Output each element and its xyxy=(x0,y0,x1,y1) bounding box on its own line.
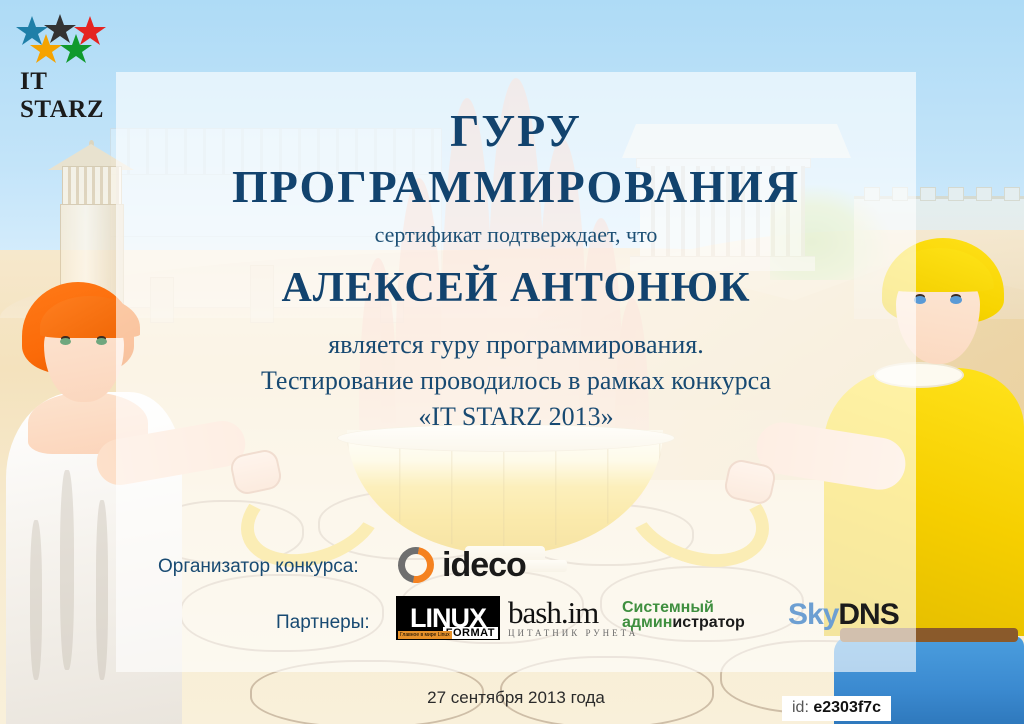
partner-logo-sysadmin: Системный администратор xyxy=(622,600,782,630)
partner-logo-skydns: SkyDNS xyxy=(788,598,899,632)
skydns-sky: Sky xyxy=(788,598,838,631)
certificate-body-line1: является гуру программирования. xyxy=(116,330,916,360)
ideco-logo: ideco xyxy=(398,545,526,585)
sysadmin-top: Системный xyxy=(622,600,782,615)
ideco-swirl-icon xyxy=(398,547,434,583)
sysadmin-bottom-green: админ xyxy=(622,614,672,631)
logo-wordmark: IT STARZ xyxy=(20,68,116,124)
certificate-id-box: id: e2303f7c xyxy=(782,696,891,721)
partner-logo-linux-format: LINUX FORMAT Главное в мире Linux xyxy=(396,596,500,640)
it-starz-logo: IT STARZ xyxy=(14,12,116,94)
certificate-body-line2: Тестирование проводилось в рамках конкур… xyxy=(116,366,916,396)
id-label: id: xyxy=(792,699,809,716)
stars-icon xyxy=(14,12,116,70)
organizer-label: Организатор конкурса: xyxy=(158,556,359,578)
recipient-name: АЛЕКСЕЙ АНТОНЮК xyxy=(116,264,916,312)
bash-im-wordmark: bash.im xyxy=(508,598,638,628)
linux-format-tagline: Главное в мире Linux xyxy=(398,631,452,639)
certificate-subtitle: сертификат подтверждает, что xyxy=(116,222,916,248)
partners-label: Партнеры: xyxy=(276,612,370,634)
partner-logo-bash-im: bash.im ЦИТАТНИК РУНЕТА xyxy=(508,598,638,638)
certificate-canvas: IT STARZ ГУРУ ПРОГРАММИРОВАНИЯ сертифика… xyxy=(0,0,1024,724)
sysadmin-bottom: администратор xyxy=(622,615,782,630)
certificate-body-line3: «IT STARZ 2013» xyxy=(116,402,916,432)
sysadmin-bottom-black: истратор xyxy=(672,614,744,631)
ideco-wordmark: ideco xyxy=(442,546,526,585)
bash-im-tagline: ЦИТАТНИК РУНЕТА xyxy=(508,628,638,638)
certificate-title-line1: ГУРУ xyxy=(116,104,916,157)
certificate-title-line2: ПРОГРАММИРОВАНИЯ xyxy=(116,160,916,213)
skydns-dns: DNS xyxy=(838,598,898,631)
id-value: e2303f7c xyxy=(813,699,881,716)
